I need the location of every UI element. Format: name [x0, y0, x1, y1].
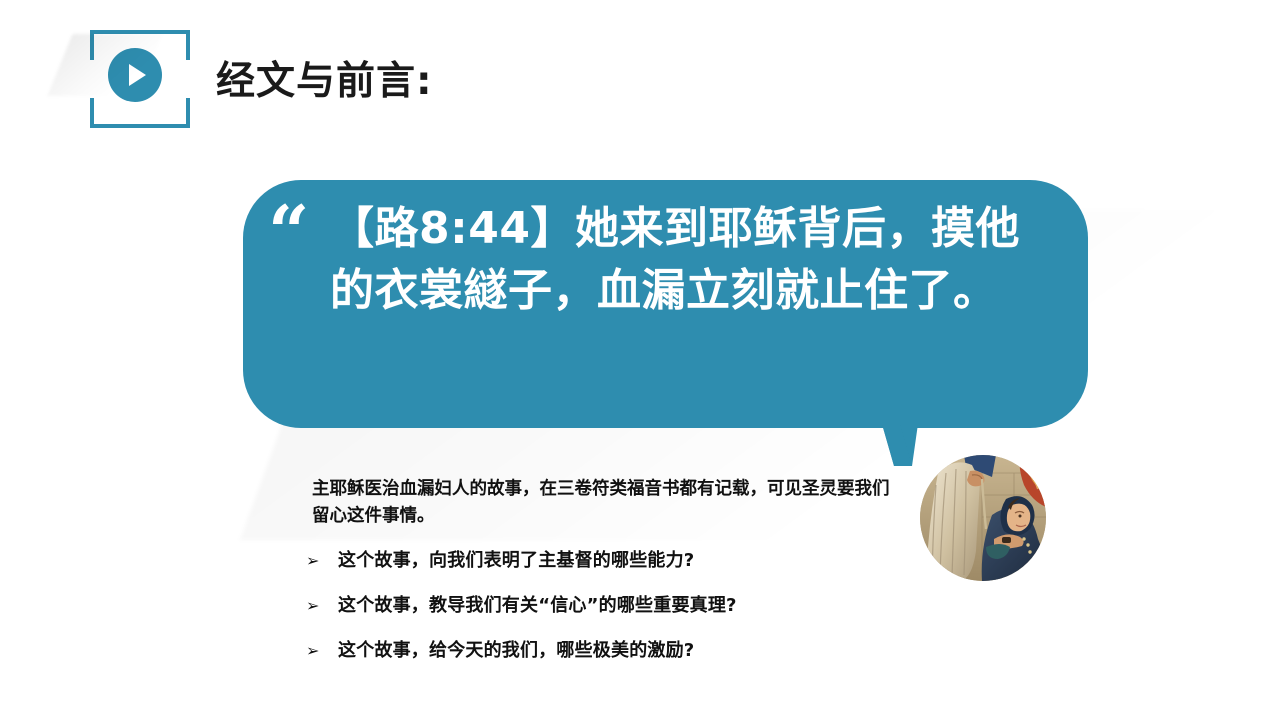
bracket-bottom-edge: [90, 124, 190, 128]
play-button-in-bracket-frame-icon: [90, 30, 190, 128]
list-item-label: 这个故事，向我们表明了主基督的哪些能力?: [338, 546, 916, 572]
arrow-bullet-icon: ➢: [306, 551, 338, 570]
quote-text: 【路8:44】她来到耶稣背后，摸他的衣裳繸子，血漏立刻就止住了。: [330, 198, 1050, 323]
page-title: 经文与前言:: [216, 50, 433, 106]
list-item-label: 这个故事，给今天的我们，哪些极美的激励?: [338, 636, 916, 662]
arrow-bullet-icon: ➢: [306, 596, 338, 615]
list-item: ➢ 这个故事，教导我们有关“信心”的哪些重要真理?: [306, 591, 916, 617]
arrow-bullet-icon: ➢: [306, 641, 338, 660]
bracket-right-bottom-stub: [186, 98, 190, 128]
bracket-left-top-stub: [90, 30, 94, 60]
bracket-right-top-stub: [186, 30, 190, 60]
list-item-label: 这个故事，教导我们有关“信心”的哪些重要真理?: [338, 591, 916, 617]
intro-paragraph: 主耶稣医治血漏妇人的故事，在三卷符类福音书都有记载，可见圣灵要我们留心这件事情。: [312, 476, 892, 531]
question-list: ➢ 这个故事，向我们表明了主基督的哪些能力? ➢ 这个故事，教导我们有关“信心”…: [306, 546, 916, 681]
quote-bubble-tail: [882, 424, 930, 466]
list-item: ➢ 这个故事，给今天的我们，哪些极美的激励?: [306, 636, 916, 662]
bracket-top-edge: [90, 30, 190, 34]
list-item: ➢ 这个故事，向我们表明了主基督的哪些能力?: [306, 546, 916, 572]
play-icon: [108, 48, 162, 102]
bracket-left-bottom-stub: [90, 98, 94, 128]
slide-canvas: 经文与前言: “ 【路8:44】她来到耶稣背后，摸他的衣裳繸子，血漏立刻就止住了…: [0, 0, 1280, 720]
woman-touching-jesus-garment-photo: [920, 455, 1046, 581]
open-quote-icon: “: [268, 196, 309, 268]
